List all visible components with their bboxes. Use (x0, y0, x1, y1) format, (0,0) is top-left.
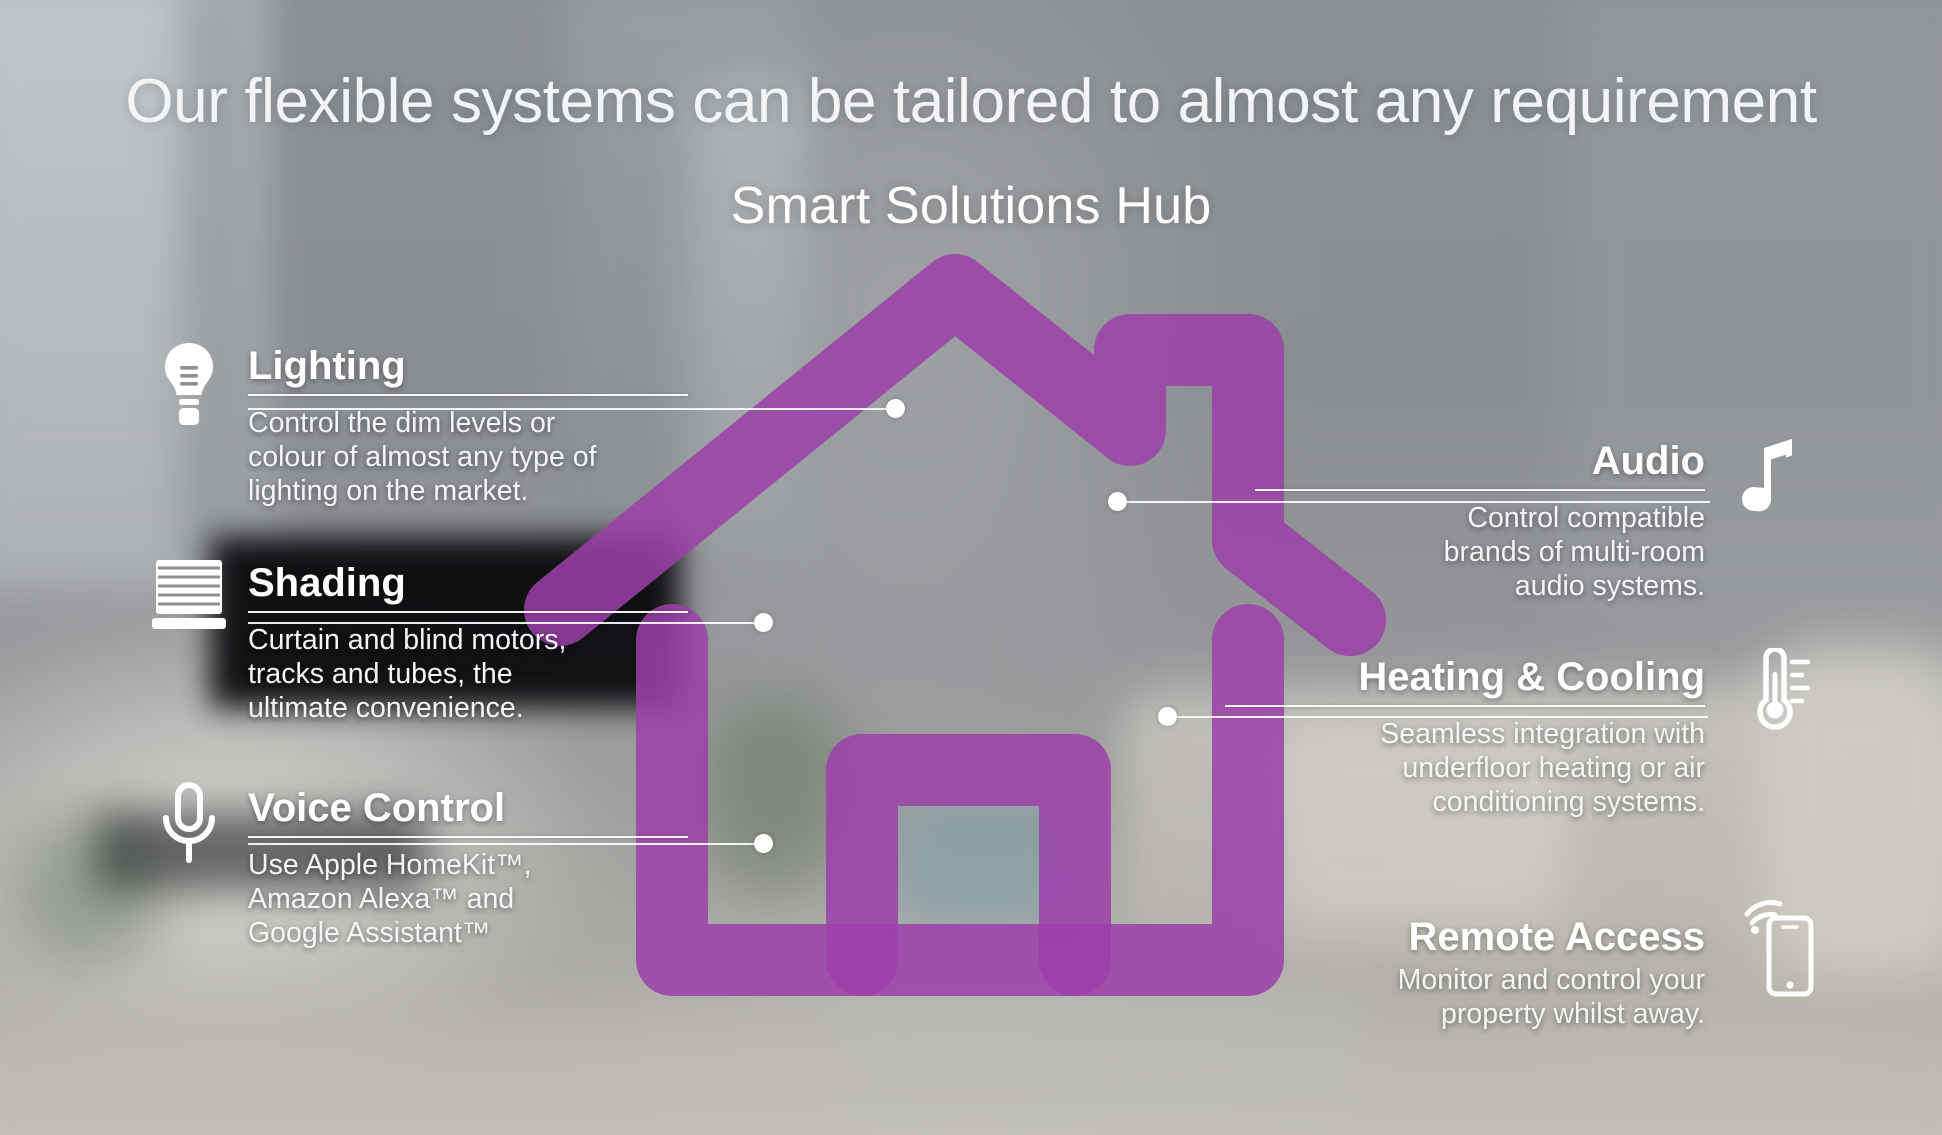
feature-lighting[interactable]: Lighting Control the dim levels or colou… (248, 345, 688, 509)
connector-line-lighting (248, 408, 898, 410)
connector-dot-heating-cooling (1158, 707, 1177, 726)
feature-audio-rule (1255, 489, 1705, 491)
feature-voice-control-rule (248, 836, 688, 838)
feature-heating-cooling[interactable]: Heating & Cooling Seamless integration w… (1225, 656, 1705, 820)
feature-voice-control-title: Voice Control (248, 787, 688, 829)
infographic-slide: Our flexible systems can be tailored to … (0, 0, 1942, 1135)
lightbulb-icon (155, 340, 223, 430)
connector-line-heating-cooling (1168, 716, 1708, 718)
feature-lighting-description: Control the dim levels or colour of almo… (248, 407, 688, 509)
page-headline: Our flexible systems can be tailored to … (0, 66, 1942, 137)
feature-lighting-rule (248, 394, 688, 396)
feature-heating-cooling-description: Seamless integration with underfloor hea… (1225, 718, 1705, 820)
blinds-icon (152, 558, 226, 636)
connector-dot-lighting (886, 399, 905, 418)
microphone-icon (158, 782, 220, 870)
feature-remote-access-description: Monitor and control your property whilst… (1255, 964, 1705, 1032)
feature-voice-control[interactable]: Voice Control Use Apple HomeKit™, Amazon… (248, 787, 688, 951)
thermometer-icon (1740, 648, 1812, 732)
connector-line-voice-control (248, 843, 768, 845)
feature-shading[interactable]: Shading Curtain and blind motors, tracks… (248, 562, 688, 726)
feature-heating-cooling-rule (1225, 705, 1705, 707)
feature-remote-access[interactable]: Remote Access Monitor and control your p… (1255, 916, 1705, 1032)
connector-dot-voice-control (754, 834, 773, 853)
connector-line-shading (248, 622, 768, 624)
feature-audio-title: Audio (1255, 440, 1705, 482)
feature-remote-access-title: Remote Access (1255, 916, 1705, 958)
feature-audio[interactable]: Audio Control compatible brands of multi… (1255, 440, 1705, 604)
feature-shading-description: Curtain and blind motors, tracks and tub… (248, 624, 688, 726)
feature-audio-description: Control compatible brands of multi-room … (1255, 502, 1705, 604)
feature-shading-title: Shading (248, 562, 688, 604)
connector-dot-audio (1108, 492, 1127, 511)
feature-shading-rule (248, 611, 688, 613)
music-note-icon (1740, 437, 1802, 513)
feature-heating-cooling-title: Heating & Cooling (1225, 656, 1705, 698)
feature-voice-control-description: Use Apple HomeKit™, Amazon Alexa™ and Go… (248, 849, 688, 951)
connector-line-audio (1118, 501, 1710, 503)
feature-lighting-title: Lighting (248, 345, 688, 387)
connector-dot-shading (754, 613, 773, 632)
smartphone-wifi-icon (1735, 880, 1815, 1000)
page-subtitle: Smart Solutions Hub (0, 176, 1942, 236)
